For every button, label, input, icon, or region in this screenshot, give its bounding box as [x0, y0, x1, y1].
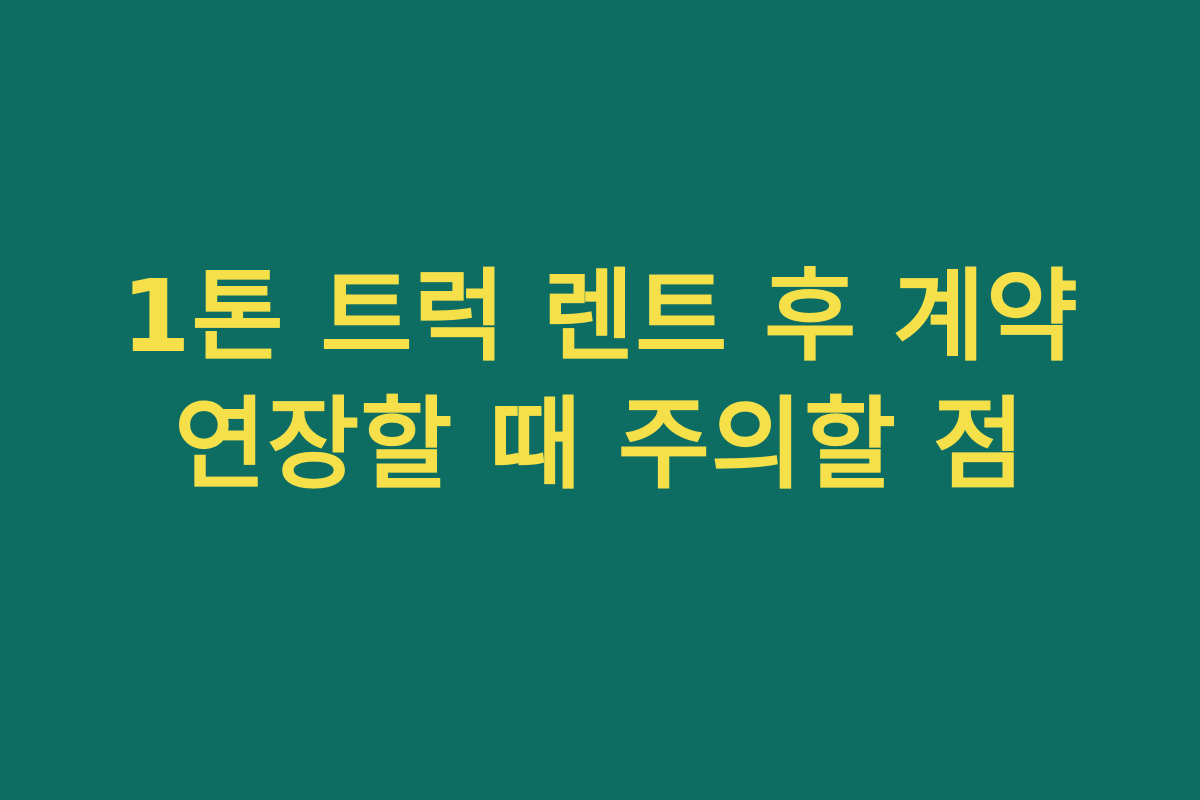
- title-line-1: 1톤 트럭 렌트 후 계약: [121, 253, 1079, 381]
- thumbnail-card: 1톤 트럭 렌트 후 계약 연장할 때 주의할 점: [0, 0, 1200, 800]
- page-title: 1톤 트럭 렌트 후 계약 연장할 때 주의할 점: [0, 253, 1200, 509]
- title-line-2: 연장할 때 주의할 점: [174, 381, 1025, 509]
